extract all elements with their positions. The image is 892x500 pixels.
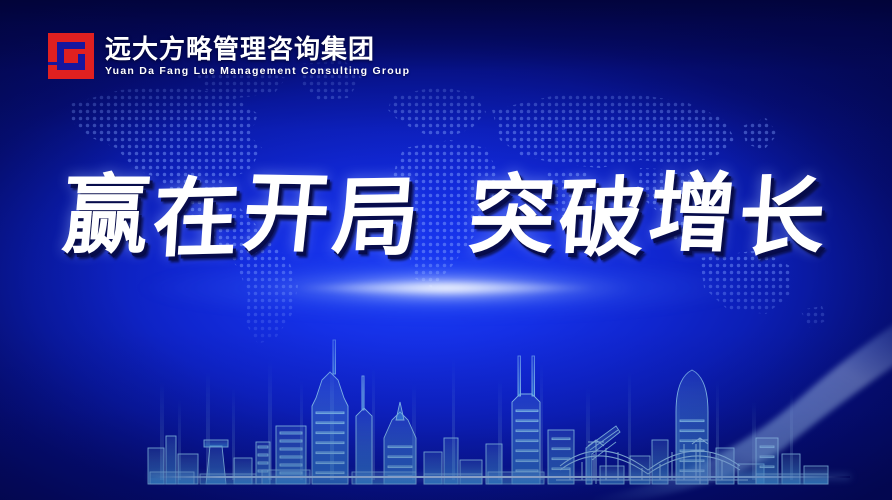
headline-char: 增	[644, 165, 744, 263]
light-ribbon	[592, 300, 892, 500]
company-name-en: Yuan Da Fang Lue Management Consulting G…	[105, 65, 410, 77]
headline-char: 赢	[59, 168, 157, 264]
company-name-cn: 远大方略管理咨询集团	[105, 35, 410, 63]
poster-canvas: 远大方略管理咨询集团 Yuan Da Fang Lue Management C…	[0, 0, 892, 500]
logo-square-mark-icon	[48, 33, 94, 79]
headline-char: 开	[238, 165, 338, 263]
headline-char: 长	[735, 169, 832, 266]
headline-char: 破	[556, 170, 652, 268]
light-flare-core	[296, 282, 596, 294]
headline-phrase-1: 赢 在 开 局	[63, 168, 423, 264]
headline-char: 在	[150, 170, 246, 268]
logo-text-block: 远大方略管理咨询集团 Yuan Da Fang Lue Management C…	[105, 35, 410, 77]
headline-char: 局	[329, 169, 426, 266]
headline-char: 突	[465, 168, 563, 264]
headline-phrase-2: 突 破 增 长	[469, 168, 829, 264]
company-logo[interactable]: 远大方略管理咨询集团 Yuan Da Fang Lue Management C…	[48, 33, 410, 79]
headline: 赢 在 开 局 突 破 增 长	[0, 168, 892, 264]
